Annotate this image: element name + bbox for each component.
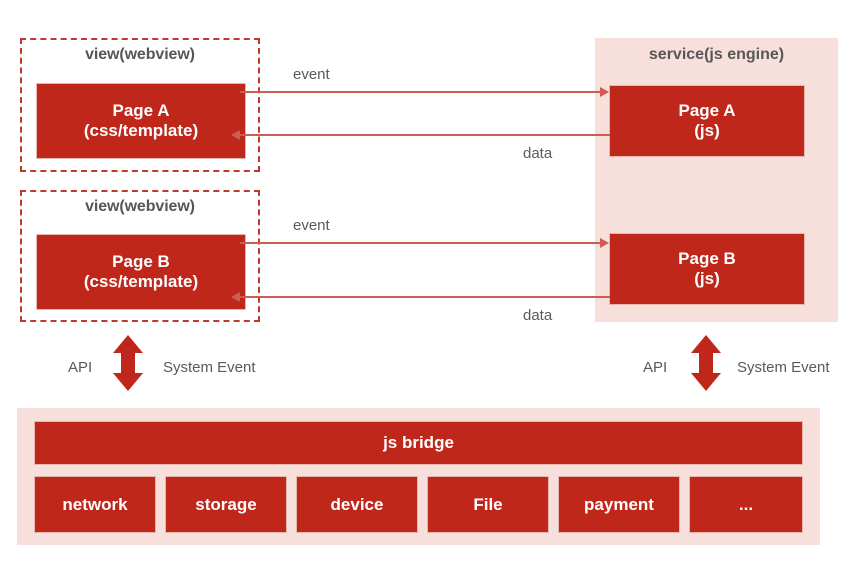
- double-arrow-vertical-icon-right: [688, 335, 724, 396]
- service-panel: service(js engine) Page A (js) Page B (j…: [595, 38, 838, 322]
- js-bridge-panel: js bridge network storage device File pa…: [17, 408, 820, 545]
- capability-storage-label: storage: [195, 495, 256, 515]
- capability-storage: storage: [165, 476, 287, 533]
- event-arrow-b-line: [240, 242, 606, 244]
- page-b-service-line1: Page B: [678, 249, 736, 269]
- event-arrow-b-head: [600, 238, 609, 248]
- api-label-left: API: [68, 359, 92, 376]
- page-b-view-line1: Page B: [112, 252, 170, 272]
- page-b-service-box: Page B (js): [609, 233, 805, 305]
- data-arrow-b-label: data: [523, 307, 552, 324]
- capability-file-label: File: [473, 495, 502, 515]
- system-event-label-left: System Event: [163, 359, 256, 376]
- capability-payment: payment: [558, 476, 680, 533]
- capability-device: device: [296, 476, 418, 533]
- capability-network: network: [34, 476, 156, 533]
- event-arrow-a-head: [600, 87, 609, 97]
- capability-payment-label: payment: [584, 495, 654, 515]
- capability-more-label: ...: [739, 495, 753, 515]
- page-b-view-line2: (css/template): [84, 272, 198, 292]
- page-a-service-line2: (js): [694, 121, 720, 141]
- data-arrow-a-line: [240, 134, 610, 136]
- data-arrow-a-label: data: [523, 145, 552, 162]
- capability-more: ...: [689, 476, 803, 533]
- page-b-service-line2: (js): [694, 269, 720, 289]
- page-a-view-box: Page A (css/template): [36, 83, 246, 159]
- view-panel-a: view(webview) Page A (css/template): [20, 38, 260, 172]
- data-arrow-b-head: [231, 292, 240, 302]
- page-a-view-line2: (css/template): [84, 121, 198, 141]
- js-bridge-label: js bridge: [383, 433, 454, 453]
- js-bridge-bar: js bridge: [34, 421, 803, 465]
- event-arrow-b-label: event: [293, 217, 330, 234]
- page-a-service-box: Page A (js): [609, 85, 805, 157]
- system-event-label-right: System Event: [737, 359, 830, 376]
- capability-file: File: [427, 476, 549, 533]
- data-arrow-a-head: [231, 130, 240, 140]
- data-arrow-b-line: [240, 296, 610, 298]
- capability-network-label: network: [62, 495, 127, 515]
- view-panel-b-title: view(webview): [22, 198, 258, 216]
- page-a-view-line1: Page A: [112, 101, 169, 121]
- double-arrow-vertical-icon-left: [110, 335, 146, 396]
- event-arrow-a-line: [240, 91, 606, 93]
- architecture-diagram: view(webview) Page A (css/template) view…: [0, 0, 864, 565]
- event-arrow-a-label: event: [293, 66, 330, 83]
- view-panel-b: view(webview) Page B (css/template): [20, 190, 260, 322]
- service-panel-title: service(js engine): [595, 46, 838, 64]
- page-b-view-box: Page B (css/template): [36, 234, 246, 310]
- view-panel-a-title: view(webview): [22, 46, 258, 64]
- api-label-right: API: [643, 359, 667, 376]
- capability-device-label: device: [331, 495, 384, 515]
- page-a-service-line1: Page A: [678, 101, 735, 121]
